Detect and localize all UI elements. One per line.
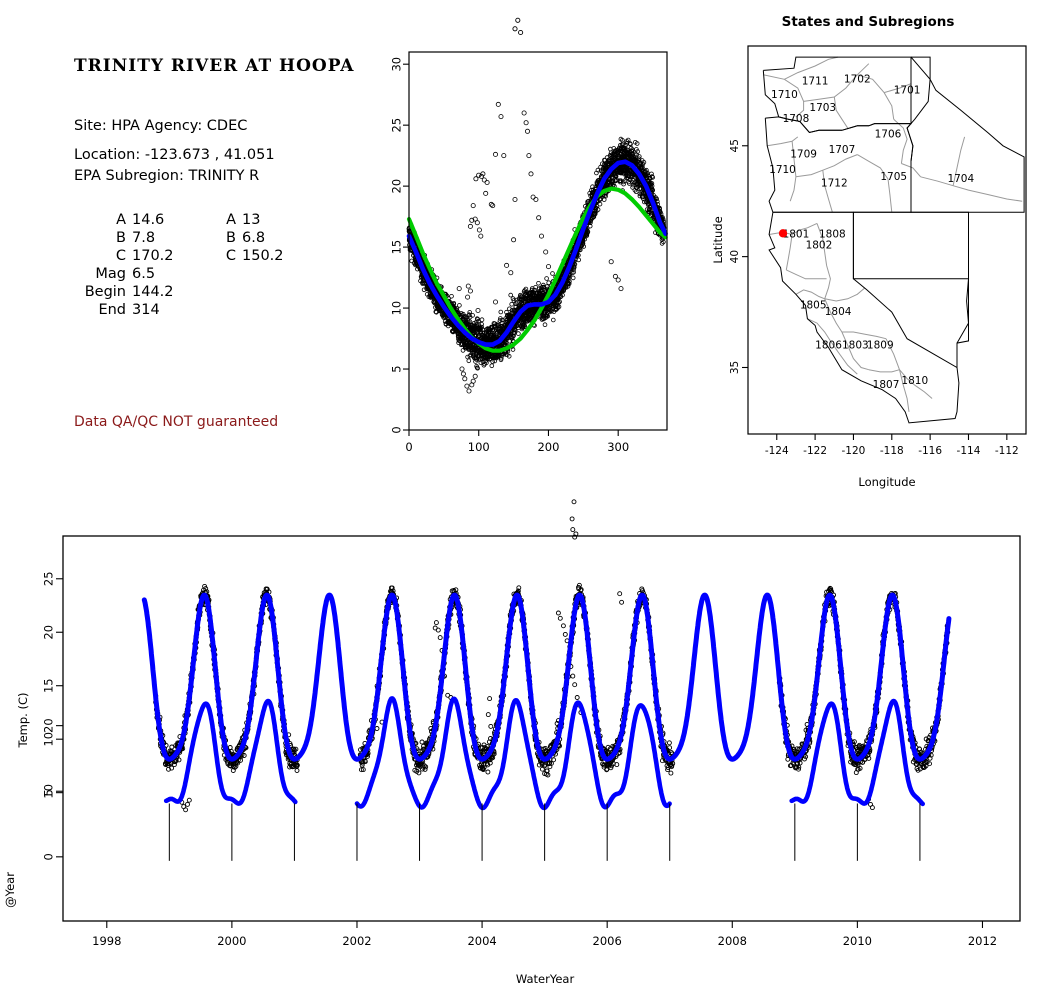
plot-frame [409,52,667,430]
svg-text:-118: -118 [880,445,904,457]
subregion-labels: 1711171017021701170317081706170917071710… [769,73,974,391]
param-label: Begin [74,284,132,302]
parameter-table: A 14.6 A 13 B 7.8 B 6.8 C 170.2 C 150.2 … [74,212,304,320]
svg-text:1711: 1711 [802,75,829,87]
svg-text:1710: 1710 [769,164,796,176]
param-value: 144.2 [132,284,214,302]
param-value: 7.8 [132,230,214,248]
location-line: Location: -123.673 , 41.051 [74,147,275,163]
svg-text:1702: 1702 [844,73,871,85]
svg-text:1707: 1707 [829,144,856,156]
param-value2 [242,302,284,320]
svg-text:-124: -124 [765,445,789,457]
svg-text:10: 10 [390,301,404,316]
param-label2: A [214,212,242,230]
param-label2 [214,266,242,284]
map-ylabel: Latitude [711,216,725,263]
seasonal-scatter-chart: 0100200300051015202530 [378,0,718,480]
svg-text:35: 35 [729,361,741,374]
svg-text:20: 20 [390,179,404,194]
param-label2: C [214,248,242,266]
map-title: States and Subregions [782,14,955,30]
param-label: A [74,212,132,230]
svg-text:1810: 1810 [901,375,928,387]
param-label: End [74,302,132,320]
param-value2: 150.2 [242,248,284,266]
svg-text:-114: -114 [957,445,981,457]
epa-subregion-line: EPA Subregion: TRINITY R [74,168,259,184]
svg-text:1703: 1703 [809,102,836,114]
table-row: C 170.2 C 150.2 [74,248,284,266]
svg-text:30: 30 [390,57,404,72]
svg-text:45: 45 [729,139,741,152]
param-value2 [242,266,284,284]
timeseries-ylabel-secondary: @Year [3,872,17,908]
param-label2 [214,284,242,302]
svg-text:1710: 1710 [771,89,798,101]
svg-text:200: 200 [537,440,559,454]
green-fit-line [409,189,666,351]
site-agency-line: Site: HPA Agency: CDEC [74,118,247,134]
svg-text:300: 300 [607,440,629,454]
param-value2: 6.8 [242,230,284,248]
table-row: End 314 [74,302,284,320]
param-label2 [214,302,242,320]
svg-text:1705: 1705 [880,171,907,183]
svg-text:1706: 1706 [875,129,902,141]
timeseries-fit-line [144,595,949,759]
param-value: 14.6 [132,212,214,230]
table-row: B 7.8 B 6.8 [74,230,284,248]
param-value: 6.5 [132,266,214,284]
param-value: 314 [132,302,214,320]
map-axes: -124-122-120-118-116-114-112354045 [729,139,1019,457]
table-row: Mag 6.5 [74,266,284,284]
qaqc-warning: Data QA/QC NOT guaranteed [74,414,278,430]
svg-text:5: 5 [390,365,404,372]
param-label: C [74,248,132,266]
svg-text:1805: 1805 [800,299,827,311]
station-marker-icon [779,229,787,237]
station-title-block: TRINITY RIVER AT HOOPA [74,56,354,76]
svg-text:1701: 1701 [894,84,921,96]
map-xlabel: Longitude [858,475,915,489]
timeseries-chart: 1998200020022004200620082010201251015202… [0,490,1038,1001]
param-value: 170.2 [132,248,214,266]
parameter-table-body: A 14.6 A 13 B 7.8 B 6.8 C 170.2 C 150.2 … [74,212,284,320]
param-value2 [242,284,284,302]
svg-text:1802: 1802 [806,240,833,252]
svg-text:100: 100 [468,440,490,454]
svg-text:-112: -112 [995,445,1019,457]
table-row: Begin 144.2 [74,284,284,302]
page-title: TRINITY RIVER AT HOOPA [74,56,354,76]
timeseries-xlabel: WaterYear [516,972,575,986]
timeseries-ylabel: Temp. (C) [16,693,30,749]
svg-text:25: 25 [390,118,404,133]
scatter-points [407,102,666,393]
param-label: Mag [74,266,132,284]
svg-text:-116: -116 [918,445,942,457]
svg-text:1809: 1809 [867,339,894,351]
table-row: A 14.6 A 13 [74,212,284,230]
param-label2: B [214,230,242,248]
svg-text:-120: -120 [842,445,866,457]
station-map-panel: States and Subregions 171117101702170117… [700,0,1038,500]
svg-text:0: 0 [405,440,412,454]
svg-text:15: 15 [390,240,404,255]
svg-text:0: 0 [390,426,404,433]
param-label: B [74,230,132,248]
svg-text:1709: 1709 [790,149,817,161]
param-value2: 13 [242,212,284,230]
svg-text:1712: 1712 [821,177,848,189]
svg-text:1708: 1708 [783,113,810,125]
svg-text:1704: 1704 [947,173,974,185]
svg-text:40: 40 [729,250,741,263]
svg-text:1807: 1807 [873,379,900,391]
svg-text:-122: -122 [803,445,827,457]
timeseries-outliers [570,490,578,539]
svg-text:1806: 1806 [815,339,842,351]
svg-text:1803: 1803 [842,339,869,351]
svg-text:1804: 1804 [825,306,852,318]
